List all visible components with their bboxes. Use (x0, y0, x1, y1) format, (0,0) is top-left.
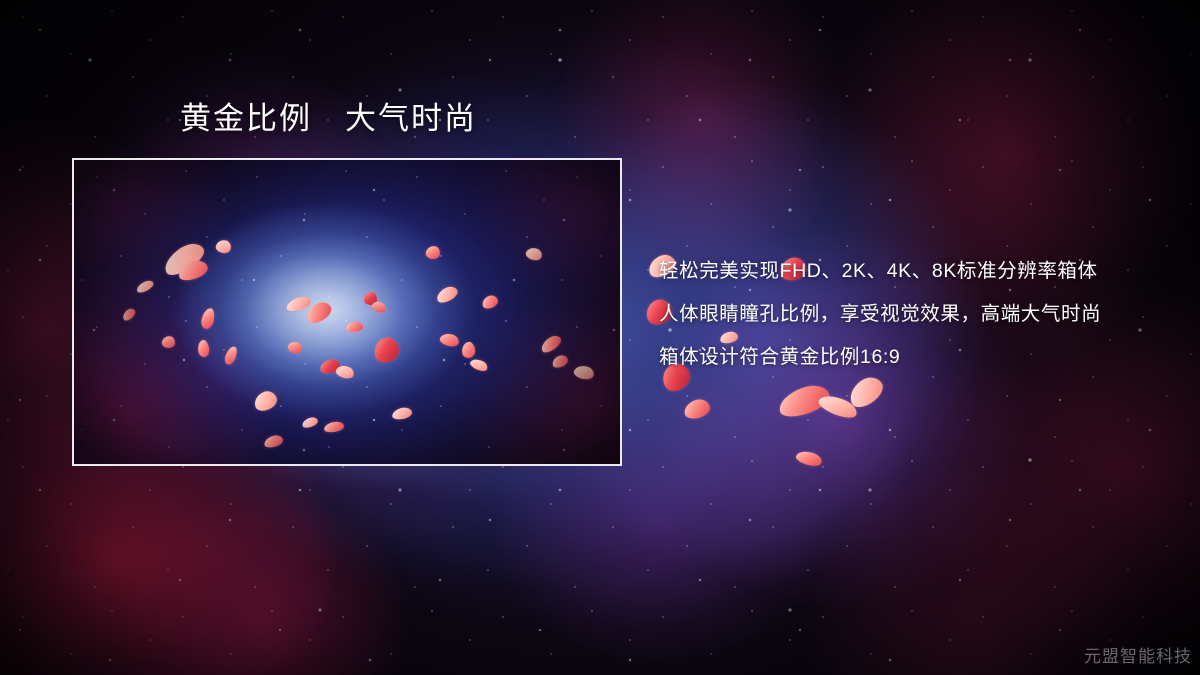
petal (301, 416, 319, 430)
frame-vignette (74, 160, 620, 464)
petal (816, 391, 859, 422)
petal (135, 279, 155, 295)
frame-starfield-medium-icon (74, 160, 620, 464)
petal (573, 364, 596, 381)
body-line: 箱体设计符合黄金比例16:9 (659, 336, 1159, 379)
petal (346, 321, 364, 332)
petal (775, 381, 832, 422)
petal (215, 238, 233, 254)
petal (285, 295, 312, 313)
petal (197, 339, 210, 357)
body-line: 人体眼睛瞳孔比例，享受视觉效果，高端大气时尚 (659, 293, 1159, 336)
petal (370, 299, 387, 314)
petal (461, 341, 476, 358)
petal (425, 245, 441, 260)
watermark: 元盟智能科技 (1084, 642, 1192, 667)
petal (160, 238, 209, 280)
petal (525, 246, 544, 262)
petal (539, 333, 564, 355)
petal (434, 284, 459, 305)
body-line: 轻松完美实现FHD、2K、4K、8K标准分辨率箱体 (659, 250, 1159, 293)
petal (335, 364, 356, 381)
petal (469, 357, 490, 373)
petal (200, 307, 216, 330)
frame-starfield-small-icon (74, 160, 620, 464)
petal (480, 294, 499, 311)
petal (223, 345, 239, 366)
framed-image-panel (72, 158, 622, 466)
petal (795, 449, 824, 469)
petal (251, 388, 279, 413)
petal (371, 335, 402, 366)
petal (319, 358, 341, 375)
frame-core-glow (74, 160, 620, 464)
petal (682, 397, 712, 421)
petal (303, 299, 334, 327)
petal (263, 434, 284, 449)
petal (161, 335, 176, 349)
petal (391, 406, 413, 420)
petal (551, 353, 570, 369)
frame-nebula-layer (74, 160, 620, 464)
petal (286, 340, 303, 355)
page-title: 黄金比例 大气时尚 (180, 99, 477, 139)
slide-canvas: 黄金比例 大气时尚 (0, 0, 1200, 675)
petal (364, 292, 377, 305)
petal (121, 307, 138, 323)
petal (323, 421, 344, 434)
body-text-block: 轻松完美实现FHD、2K、4K、8K标准分辨率箱体 人体眼睛瞳孔比例，享受视觉效… (659, 250, 1159, 379)
petal (176, 258, 210, 283)
petal (439, 332, 461, 349)
